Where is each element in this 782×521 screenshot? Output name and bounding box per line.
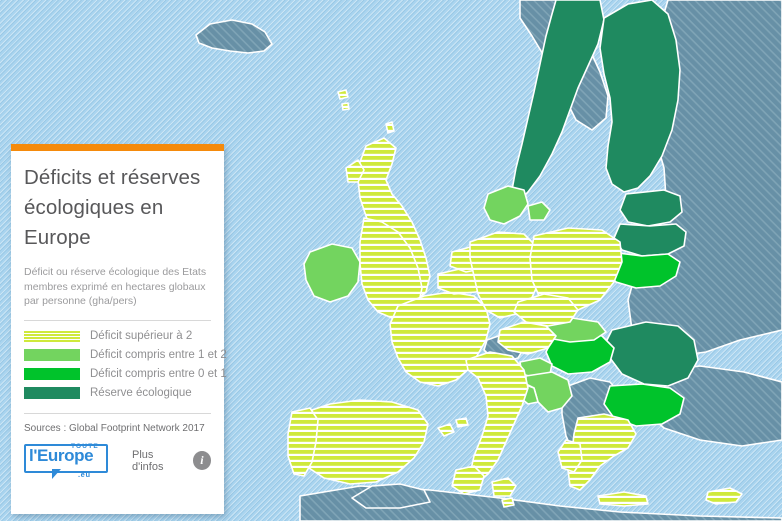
- legend-swatch-striped: [24, 330, 80, 342]
- legend-swatch-bright-green: [24, 368, 80, 380]
- legend-label: Réserve écologique: [90, 387, 192, 400]
- logo-bubble-tail: [52, 469, 61, 479]
- legend-item-reserve: Réserve écologique: [24, 385, 211, 402]
- panel-subtitle: Déficit ou réserve écologique des Etats …: [24, 265, 211, 309]
- logo-tld-text: .eu: [78, 470, 91, 479]
- legend-item-deficit-0-1: Déficit compris entre 0 et 1: [24, 366, 211, 383]
- legend-label: Déficit compris entre 0 et 1: [90, 368, 227, 381]
- legend-swatch-light-green: [24, 349, 80, 361]
- legend-label: Déficit supérieur à 2: [90, 330, 192, 343]
- infographic-map: Déficits et réserves écologiques en Euro…: [0, 0, 782, 521]
- legend-label: Déficit compris entre 1 et 2: [90, 349, 227, 362]
- legend-item-deficit-gt2: Déficit supérieur à 2: [24, 328, 211, 345]
- more-info-button[interactable]: Plus d'infos i: [132, 449, 211, 473]
- legend-swatch-dark-green: [24, 387, 80, 399]
- legend: Déficit supérieur à 2 Déficit compris en…: [24, 328, 211, 402]
- more-info-label: Plus d'infos: [132, 449, 186, 473]
- divider-top: [24, 320, 211, 321]
- info-panel: Déficits et réserves écologiques en Euro…: [11, 144, 224, 514]
- panel-accent-bar: [11, 144, 224, 151]
- legend-item-deficit-1-2: Déficit compris entre 1 et 2: [24, 347, 211, 364]
- panel-footer: l'Europe TOUTE .eu Plus d'infos i: [24, 444, 211, 478]
- source-note: Sources : Global Footprint Network 2017: [24, 423, 211, 434]
- info-icon[interactable]: i: [193, 451, 211, 470]
- toute-leurope-logo[interactable]: l'Europe TOUTE .eu: [24, 444, 110, 478]
- logo-kicker-text: TOUTE: [71, 443, 99, 450]
- divider-bottom: [24, 413, 211, 414]
- page-title: Déficits et réserves écologiques en Euro…: [24, 163, 211, 253]
